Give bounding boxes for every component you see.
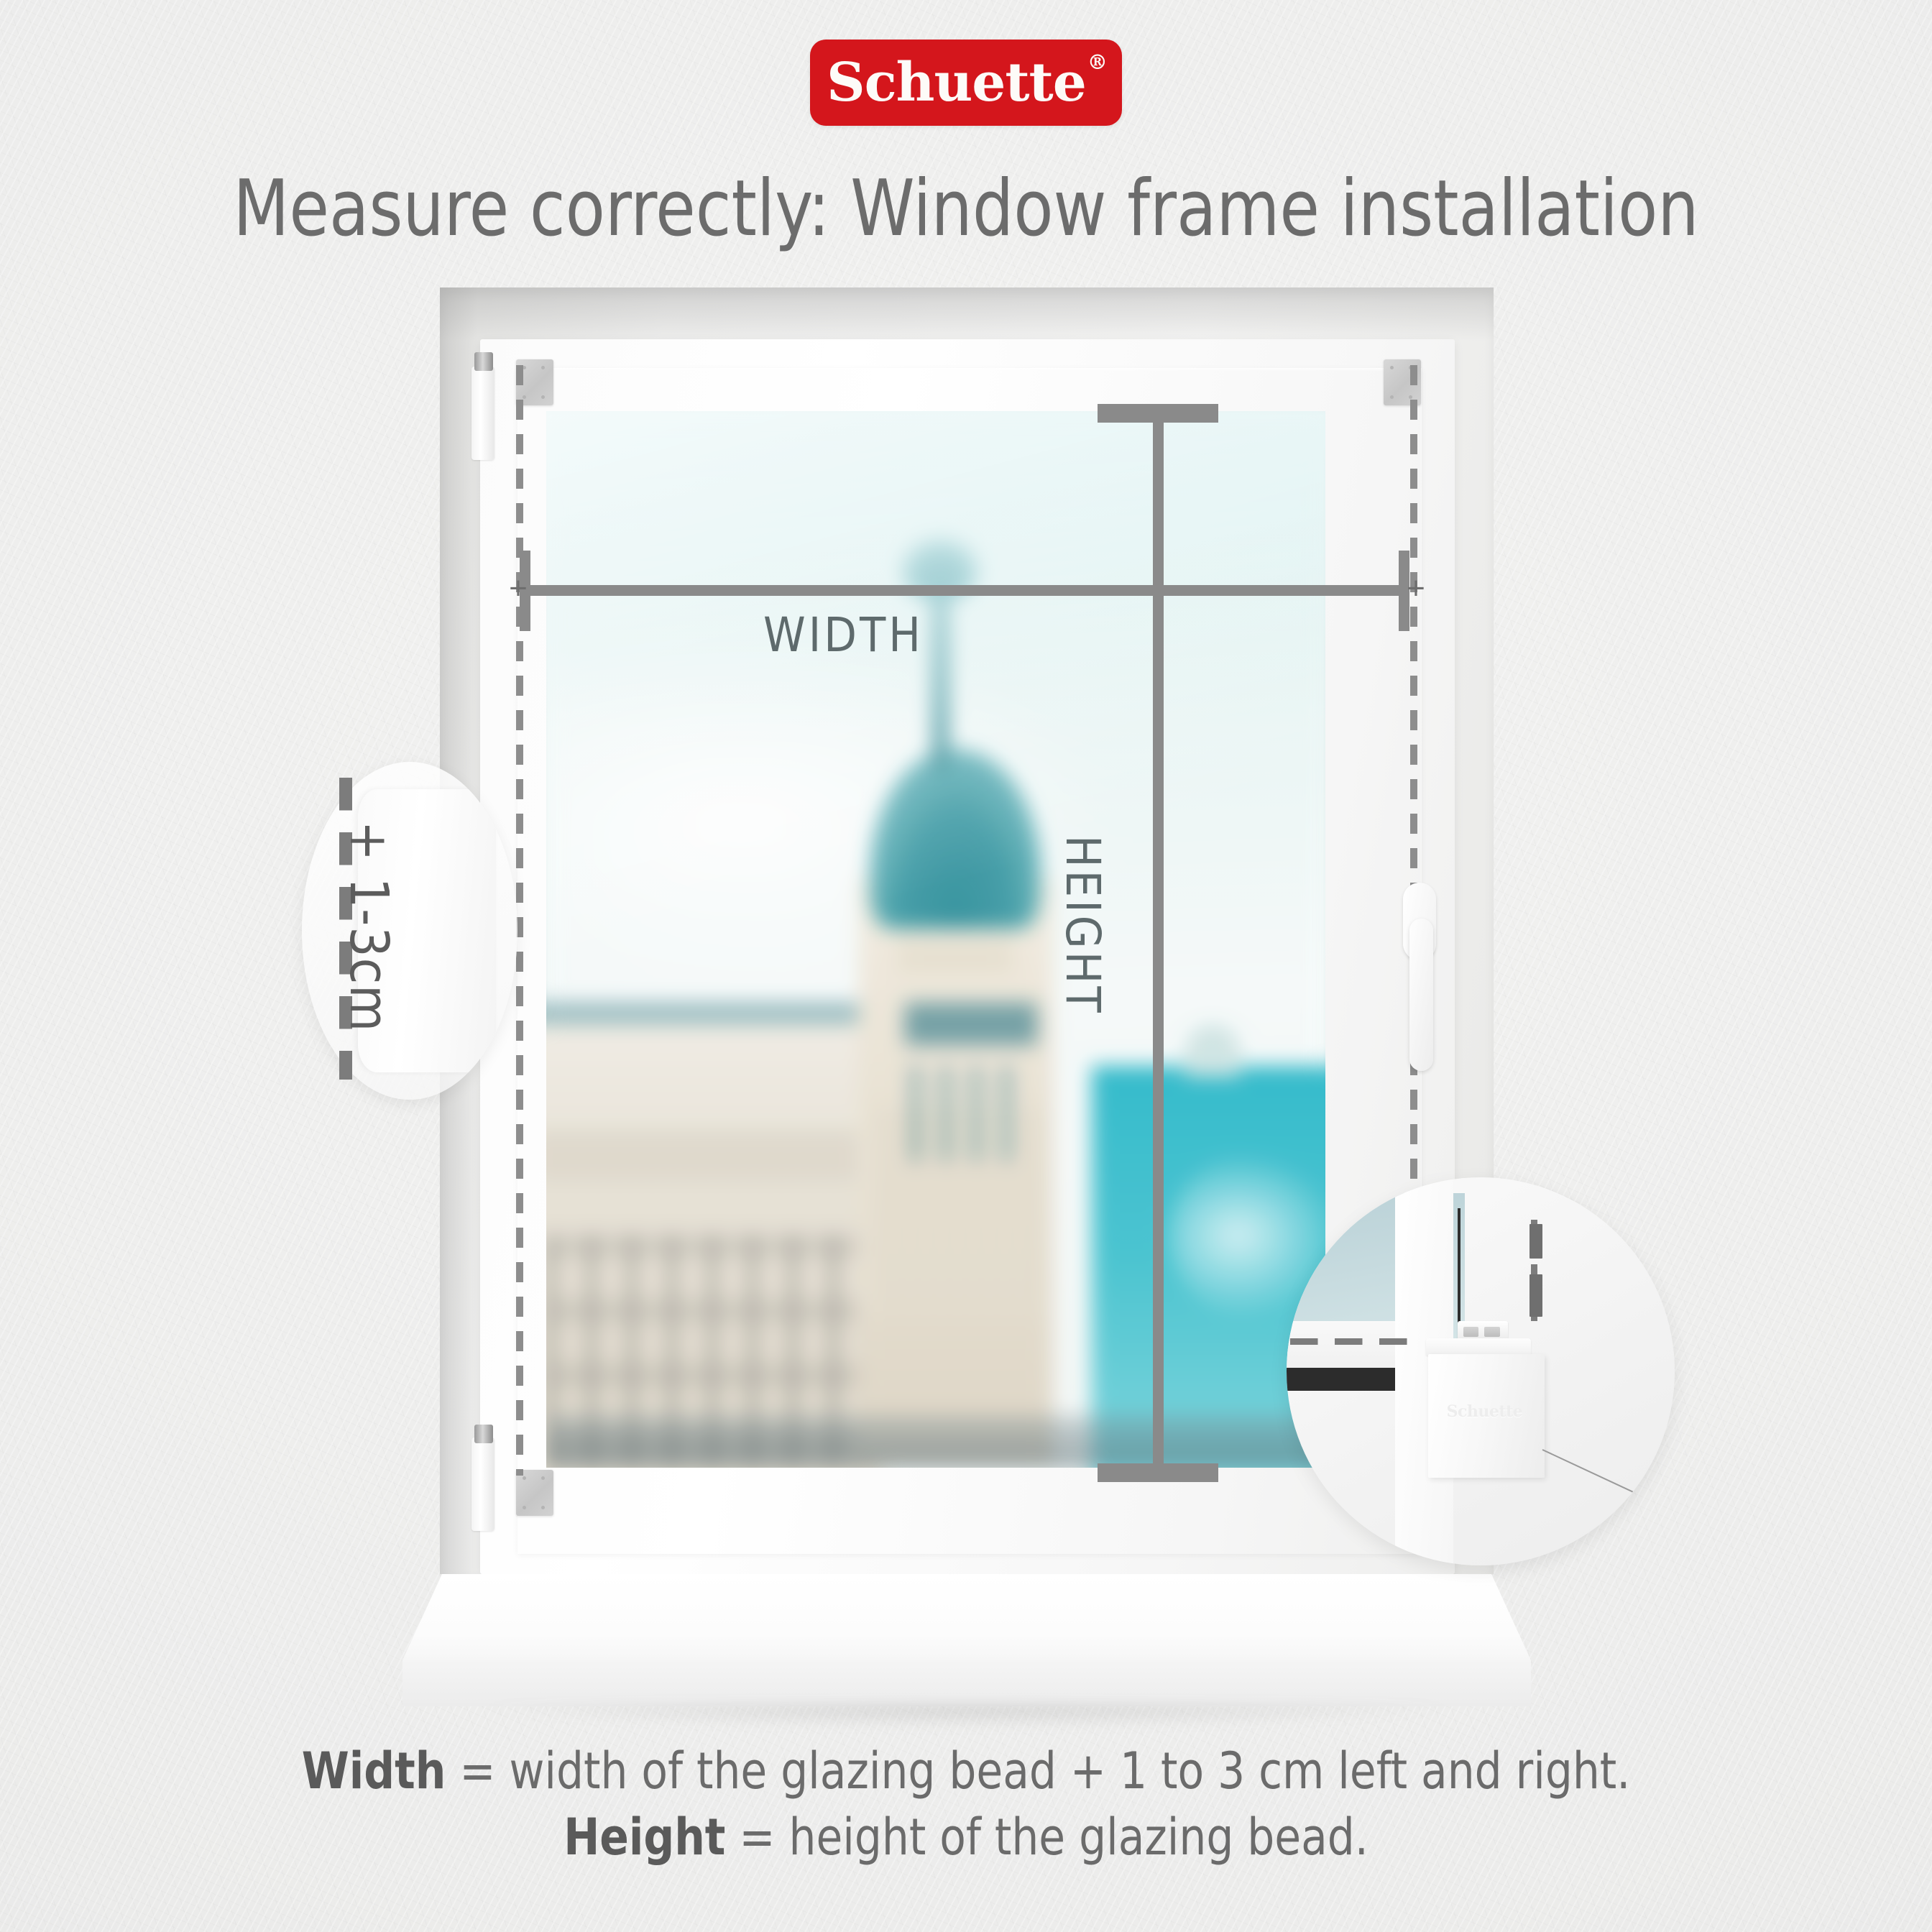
window-glass [546, 411, 1325, 1468]
caption-line-height: Height = height of the glazing bead. [48, 1804, 1884, 1870]
height-label: HEIGHT [1055, 835, 1110, 1016]
magnifier-right-glazing-bead-slot [1458, 1208, 1460, 1328]
magnifier-right-clip-tab-right [1484, 1327, 1500, 1337]
magnifier-right-bracket-brand: Schuette [1442, 1402, 1527, 1421]
poster-root: Schuette® Measure correctly: Window fram… [0, 0, 1932, 1932]
dome-finial [932, 580, 949, 770]
window-hinge-top [471, 367, 494, 460]
window-sill-front [402, 1660, 1531, 1706]
cityscape-view [546, 411, 1325, 1468]
street-level [546, 1415, 1325, 1468]
magnifier-right-clip-tab-left [1463, 1327, 1479, 1337]
caption-height-rest: = height of the glazing bead. [725, 1808, 1368, 1867]
reveal-top-shadow [440, 287, 1494, 341]
window-hinge-bottom [471, 1437, 494, 1531]
left-building-balustrade [546, 1130, 873, 1183]
caption-width-rest: = width of the glazing bead + 1 to 3 cm … [446, 1742, 1630, 1800]
height-measure-line [1153, 407, 1164, 1481]
tolerance-label: + 1-3cm [338, 821, 400, 1032]
magnifier-right-tick-lower [1529, 1274, 1543, 1317]
width-label: WIDTH [763, 607, 924, 663]
magnifier-right-dashed-guide-horizontal [1290, 1338, 1422, 1345]
window-hinge-top-cap [474, 352, 493, 371]
plus-icon-left: + [505, 578, 531, 604]
plus-icon-right: + [1403, 578, 1429, 604]
magnifier-right-leader-line [1542, 1449, 1659, 1504]
magnifier-right-bracket-top [1426, 1338, 1531, 1356]
magnifier-right-tick-upper [1529, 1224, 1543, 1259]
window-hinge-bottom-cap [474, 1425, 493, 1443]
registered-mark-icon: ® [1087, 50, 1107, 74]
page-title: Measure correctly: Window frame installa… [68, 164, 1864, 254]
caption-width-key: Width [302, 1742, 446, 1800]
magnifier-left [302, 762, 517, 1100]
window-handle-lever[interactable] [1409, 919, 1433, 1071]
brand-logo-text: Schuette® [827, 56, 1105, 109]
tower-band-window [905, 1003, 1037, 1045]
magnifier-right: Schuette [1287, 1177, 1675, 1565]
tower-windows [912, 1066, 1013, 1161]
glazing-bracket-bottom-left [516, 1470, 553, 1516]
caption-line-width: Width = width of the glazing bead + 1 to… [48, 1738, 1884, 1804]
right-small-dome [1185, 1024, 1240, 1077]
width-measure-line [520, 585, 1409, 596]
caption-height-key: Height [563, 1808, 725, 1867]
brand-name: Schuette [827, 52, 1086, 114]
window-sill-shadow [417, 1705, 1517, 1735]
window-sill-top [402, 1574, 1531, 1660]
brand-logo: Schuette® [810, 40, 1122, 126]
caption-block: Width = width of the glazing bead + 1 to… [48, 1738, 1884, 1871]
